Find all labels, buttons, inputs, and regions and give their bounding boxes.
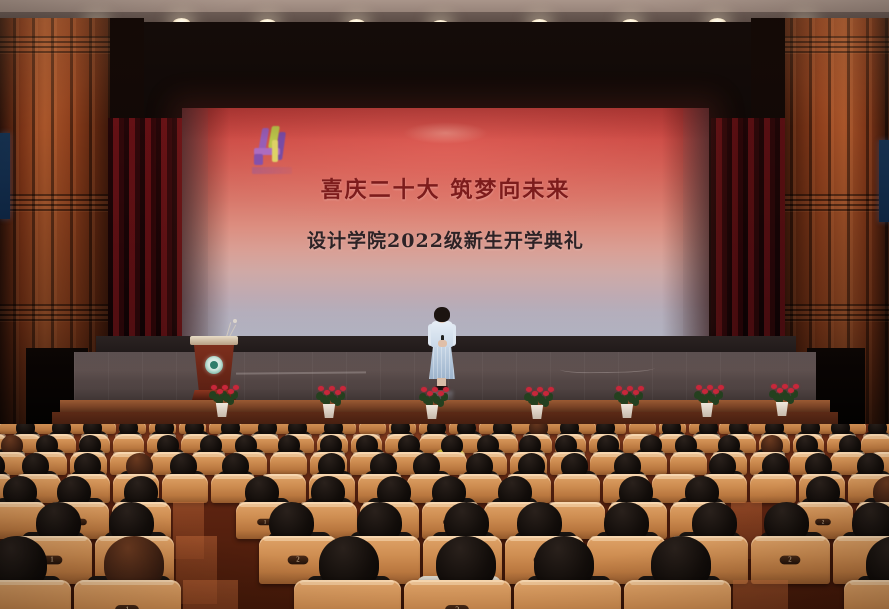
flower-pot (530, 405, 544, 419)
university-seal-icon (205, 356, 223, 374)
auditorium-seat[interactable]: 2 (751, 536, 830, 584)
potted-flower (690, 384, 724, 418)
auditorium-seat[interactable] (113, 434, 144, 453)
potted-flower (205, 384, 239, 418)
auditorium-seat[interactable] (750, 474, 796, 503)
auditorium-photo: 喜庆二十大 筑梦向未来 设计学院2022级新生开学典礼 (0, 0, 889, 609)
seat-number-plate: 2 (288, 556, 309, 565)
auditorium-seat[interactable] (629, 424, 656, 434)
auditorium-seat[interactable]: 2 (404, 580, 511, 609)
potted-flower (610, 385, 644, 419)
auditorium-seat[interactable] (844, 580, 889, 609)
stage-curtain-right (711, 118, 785, 350)
flower-pot (425, 405, 439, 419)
projection-screen: 喜庆二十大 筑梦向未来 设计学院2022级新生开学典礼 (182, 108, 709, 336)
presenter-hands (438, 340, 447, 347)
auditorium-seat[interactable]: 1 (74, 580, 181, 609)
auditorium-seat[interactable] (294, 580, 401, 609)
auditorium-seat[interactable] (0, 580, 71, 609)
auditorium-seat[interactable] (624, 580, 731, 609)
aisle-gap (183, 580, 238, 609)
auditorium-seat[interactable] (554, 474, 600, 503)
flower-pot (322, 404, 336, 418)
wall-display-right-icon (879, 140, 889, 222)
auditorium-seat[interactable] (514, 580, 621, 609)
presenter-hair (434, 307, 450, 322)
audience-seating-area: 21232123212 (0, 424, 889, 609)
potted-flower (312, 385, 346, 419)
wall-display-left-icon (0, 133, 10, 219)
seat-number-plate: 1 (115, 605, 139, 609)
potted-flower (520, 386, 554, 420)
stage-curtain-left (108, 118, 182, 350)
flower-pot (775, 402, 789, 416)
auditorium-seat[interactable] (670, 452, 707, 475)
flower-pot (700, 403, 714, 417)
aisle-gap (733, 580, 788, 609)
screen-vignette (182, 108, 709, 336)
flower-pot (620, 404, 634, 418)
auditorium-seat[interactable] (861, 434, 889, 453)
seat-number-plate: 2 (780, 556, 801, 565)
potted-flower (765, 383, 799, 417)
seat-number-plate: 2 (445, 605, 469, 609)
seat-number-plate: 2 (816, 519, 832, 526)
auditorium-seat[interactable] (270, 452, 307, 475)
flower-pot (215, 403, 229, 417)
presenter-skirt (429, 345, 455, 379)
presenter-with-microphone (425, 307, 459, 392)
auditorium-seat[interactable] (162, 474, 208, 503)
podium-top (190, 336, 238, 345)
auditorium-seat[interactable] (359, 424, 386, 434)
potted-flower (415, 386, 449, 420)
microphone-head-icon (233, 319, 237, 323)
